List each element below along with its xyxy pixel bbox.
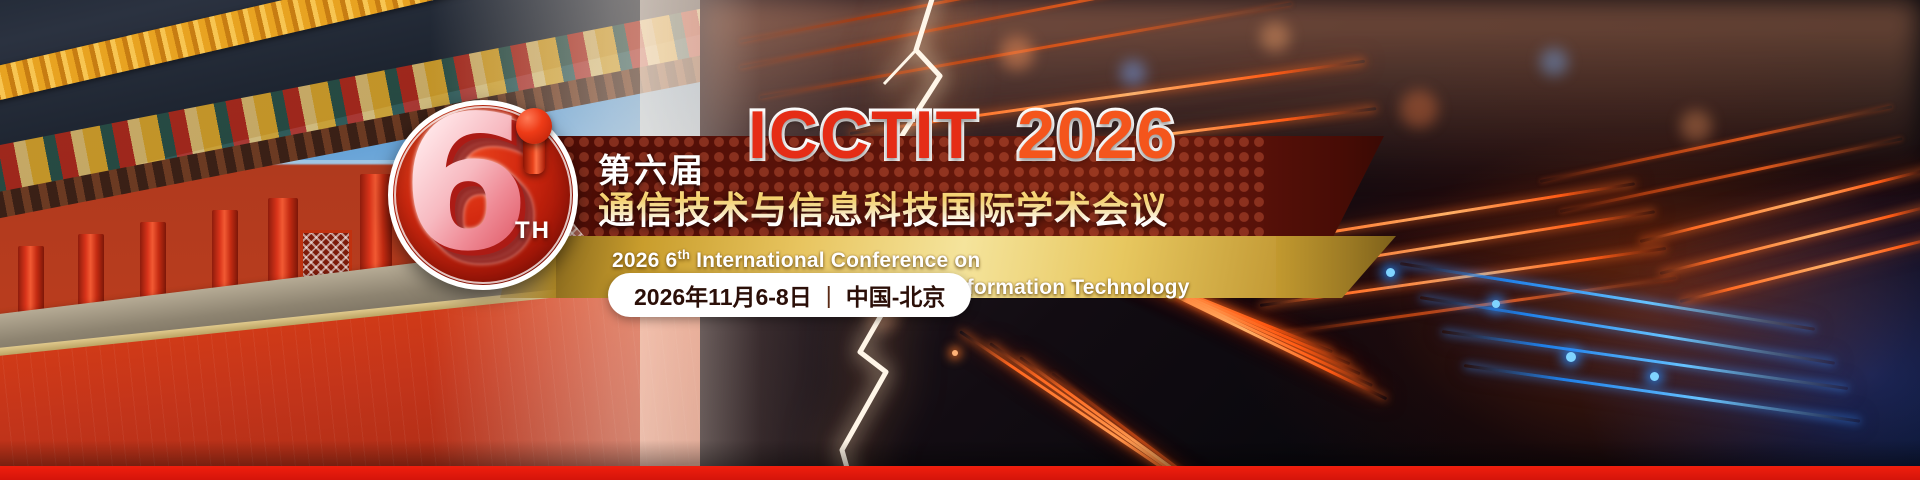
conference-acronym: ICCTIT2026 xyxy=(748,96,1176,174)
conference-banner: ICCTIT2026 第六届 通信技术与信息科技国际学术会议 2026 6th … xyxy=(0,0,1920,480)
ordinal-suffix: th xyxy=(677,247,690,262)
date-location-separator: | xyxy=(826,282,832,309)
badge-ordinal: TH xyxy=(515,217,551,245)
bottom-red-strip xyxy=(0,466,1920,480)
pushpin-head xyxy=(516,108,552,144)
date-location-badge: 2026年11月6-8日 | 中国-北京 xyxy=(608,273,971,317)
badge-number: 6 xyxy=(401,100,530,277)
conference-location: 中国-北京 xyxy=(846,278,946,312)
bottom-shadow xyxy=(0,440,1920,466)
pushpin-icon xyxy=(512,108,554,174)
title-chinese: 通信技术与信息科技国际学术会议 xyxy=(598,180,1168,234)
subtitle-line-1: 2026 6th International Conference on xyxy=(612,249,980,272)
conference-year: 2026 xyxy=(1017,97,1176,173)
conference-date: 2026年11月6-8日 xyxy=(634,278,812,312)
subtitle-year-ordinal-pre: 2026 6 xyxy=(612,249,677,272)
subtitle-year-ordinal-post: International Conference on xyxy=(690,249,980,272)
acronym-text: ICCTIT xyxy=(748,97,979,173)
